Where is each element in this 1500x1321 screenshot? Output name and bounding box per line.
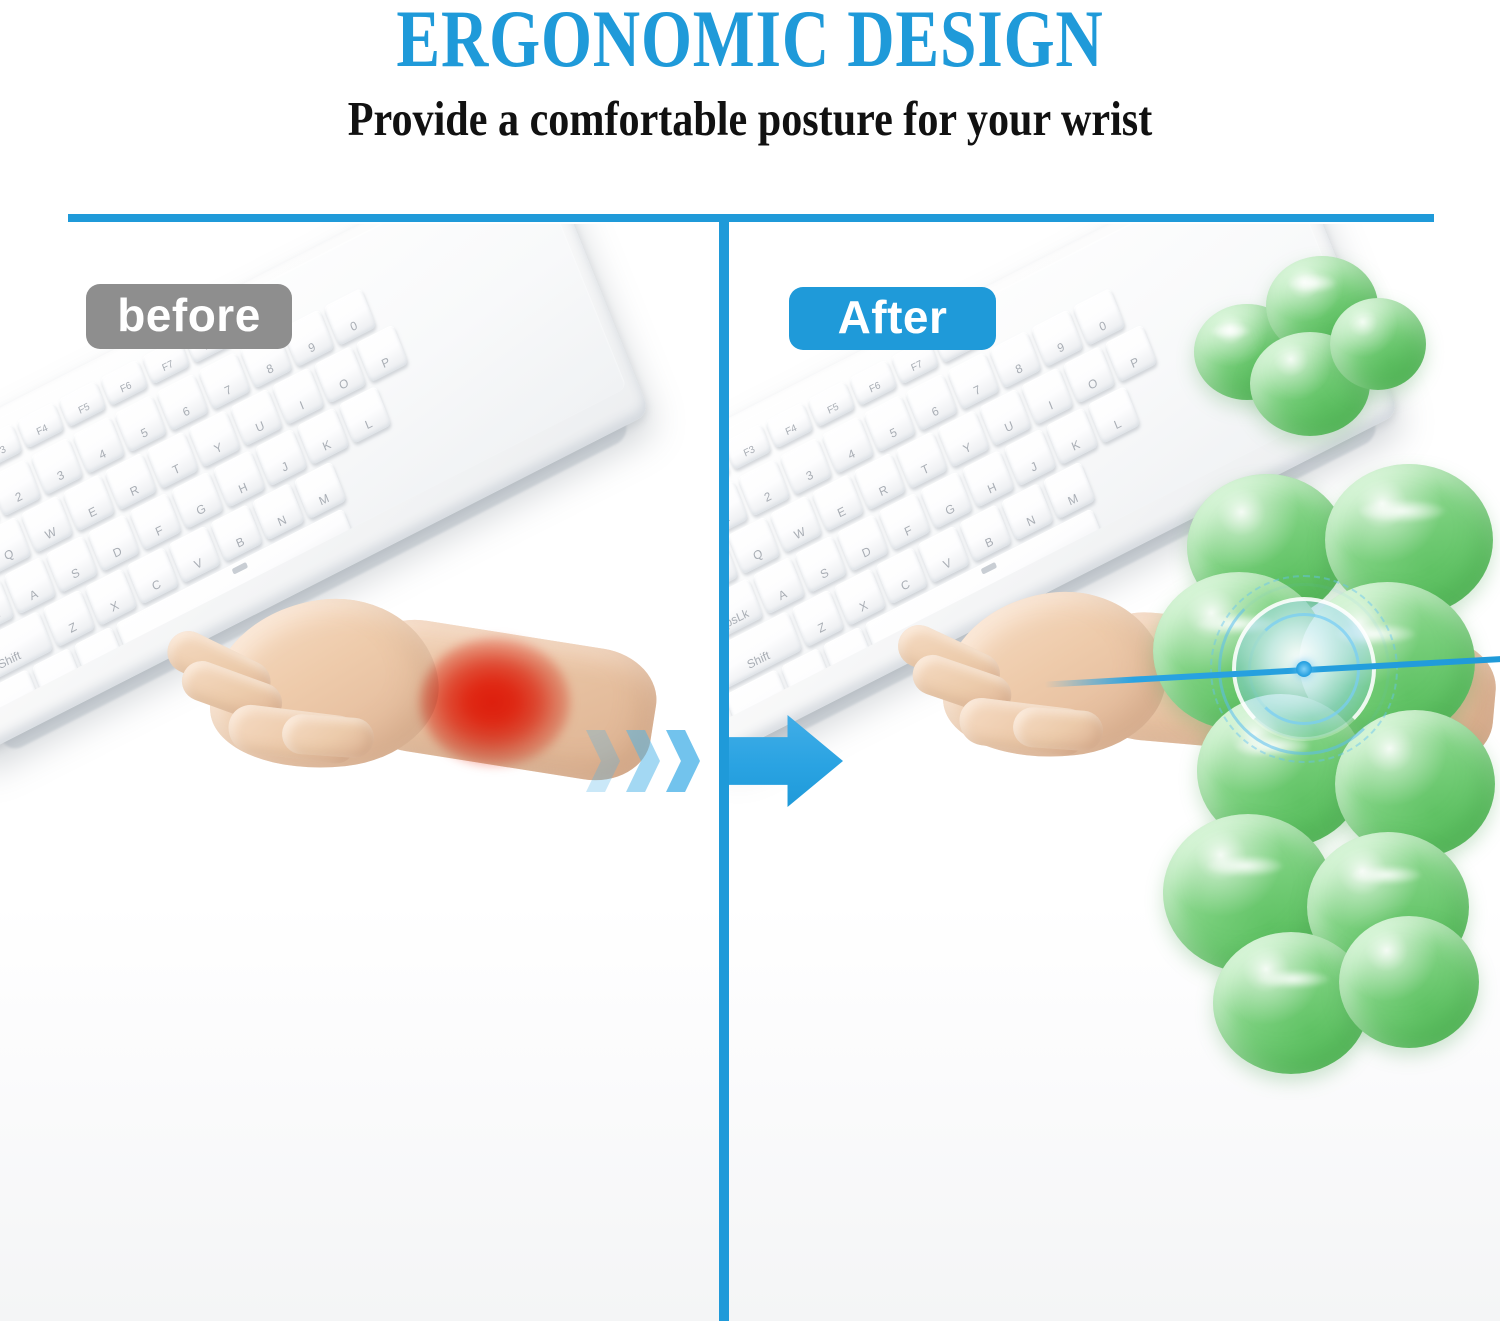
- gel-highlight: [1351, 866, 1421, 884]
- gel-dome: [1339, 916, 1479, 1048]
- gel-dome: [1330, 298, 1426, 390]
- gel-highlight: [1359, 500, 1445, 522]
- vertical-divider: [719, 214, 729, 1321]
- gel-highlight: [1207, 856, 1283, 876]
- gel-highlight: [1257, 970, 1329, 988]
- gel-highlight: [1288, 274, 1336, 292]
- wrist-pain-glow: [420, 638, 570, 766]
- before-panel: F1 F2 F3 F4 F5 F6 F7 F8 ~ 1 2 3 4: [0, 224, 719, 1321]
- page-subtitle: Provide a comfortable posture for your w…: [105, 90, 1395, 147]
- product-feature-image: ERGONOMIC DESIGN Provide a comfortable p…: [0, 0, 1500, 1321]
- hand-before: [150, 564, 610, 864]
- desk-surface: [0, 901, 719, 1321]
- gel-highlight: [1210, 324, 1250, 338]
- chevron-icon: [666, 730, 700, 792]
- gel-wrist-rest-upper: [1184, 246, 1424, 436]
- reticle-center-dot: [1296, 661, 1312, 677]
- finger-ring: [1012, 706, 1105, 752]
- wrist-scan-reticle: [1204, 569, 1404, 769]
- after-panel: F1 F2 F3 F4 F5 F6 F7 F8 ~ 1 2 3 4: [729, 224, 1500, 1321]
- finger-ring: [281, 713, 376, 759]
- page-title: ERGONOMIC DESIGN: [150, 0, 1350, 82]
- after-badge: After: [789, 287, 996, 350]
- before-badge: before: [86, 284, 292, 349]
- horizontal-divider: [68, 214, 1434, 222]
